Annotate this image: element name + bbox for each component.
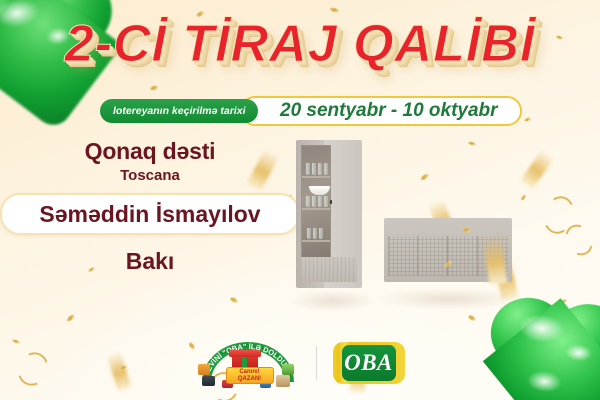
oba-brand-text: OBA — [344, 350, 393, 376]
lottery-date-value: 20 sentyabr - 10 oktyabr — [240, 96, 522, 126]
lottery-winner-banner: 2-Cİ TİRAJ QALİBİ 20 sentyabr - 10 oktya… — [0, 0, 600, 400]
lottery-date-row: 20 sentyabr - 10 oktyabr lotereyanın keç… — [100, 96, 258, 126]
oba-brand-logo: OBA — [333, 342, 405, 384]
mini-prize-icon — [276, 375, 290, 387]
mini-prize-icon — [282, 364, 294, 375]
lottery-date-label: lotereyanın keçirilmə tarixi — [100, 99, 258, 123]
campaign-promo-line2: QAZAN! — [238, 376, 261, 383]
winner-details: Qonaq dəsti Toscana Səməddin İsmayılov B… — [0, 138, 300, 275]
mini-prize-icon — [202, 376, 215, 386]
campaign-logo: EVİNİ "OBA" İLƏ DOLDUR Canını! QAZAN! — [196, 338, 300, 388]
gift-box-icon: Canını! QAZAN! — [220, 354, 276, 384]
campaign-promo-line1: Canını! — [239, 369, 259, 376]
prize-furniture-image — [296, 140, 516, 320]
glass-display-cabinet — [296, 140, 362, 305]
logo-row: EVİNİ "OBA" İLƏ DOLDUR Canını! QAZAN! — [0, 338, 600, 388]
mini-prize-icon — [198, 364, 210, 375]
logo-divider — [316, 346, 317, 380]
prize-model: Toscana — [0, 167, 300, 184]
prize-name: Qonaq dəsti — [0, 138, 300, 165]
winner-name: Səməddin İsmayılov — [0, 193, 300, 235]
sideboard — [384, 218, 512, 304]
campaign-promo-text: Canını! QAZAN! — [226, 367, 274, 384]
winner-city: Bakı — [0, 248, 300, 275]
page-title: 2-Cİ TİRAJ QALİBİ — [0, 14, 600, 74]
